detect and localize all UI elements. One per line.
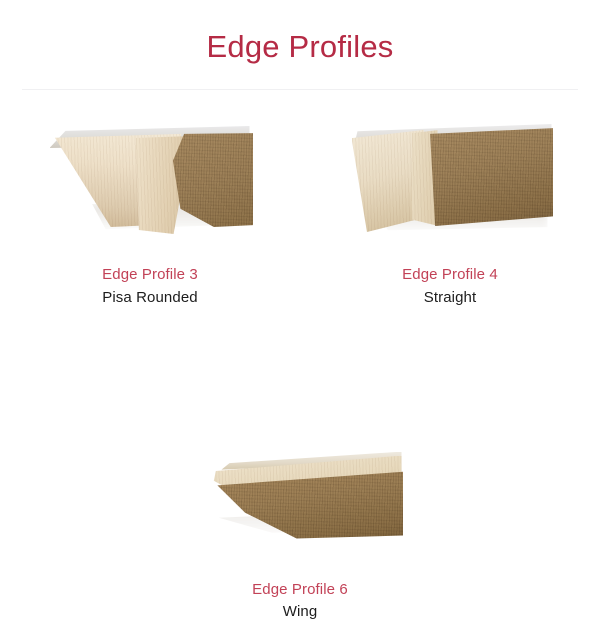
profile-caption: Edge Profile 3 Pisa Rounded [102,265,198,308]
profile-id-label: Edge Profile 6 [252,580,348,600]
profile-caption: Edge Profile 6 Wing [252,580,348,622]
page-header: Edge Profiles [0,0,600,89]
profile-card-3[interactable]: Edge Profile 3 Pisa Rounded [0,100,300,308]
end-grain-texture [428,128,553,226]
wood-illustration [198,448,403,568]
profile-card-4[interactable]: Edge Profile 4 Straight [300,100,600,308]
edge-profiles-page: Edge Profiles [0,0,600,600]
profile-card-6[interactable]: Edge Profile 6 Wing [150,308,450,622]
profile-id-label: Edge Profile 3 [102,265,198,285]
profile-image-pisa-rounded[interactable] [48,118,253,253]
profile-id-label: Edge Profile 4 [402,265,498,285]
profile-name-label: Straight [402,288,498,308]
profile-name-label: Wing [252,602,348,622]
page-title: Edge Profiles [207,27,394,62]
header-divider [22,89,578,90]
profile-grid: Edge Profile 3 Pisa Rounded [0,100,600,622]
wood-illustration [348,118,553,253]
profile-name-label: Pisa Rounded [102,288,198,308]
profile-caption: Edge Profile 4 Straight [402,265,498,308]
board-end-grain [428,128,553,226]
profile-image-wing[interactable] [198,448,403,568]
wood-illustration [48,118,253,253]
profile-image-straight[interactable] [348,118,553,253]
